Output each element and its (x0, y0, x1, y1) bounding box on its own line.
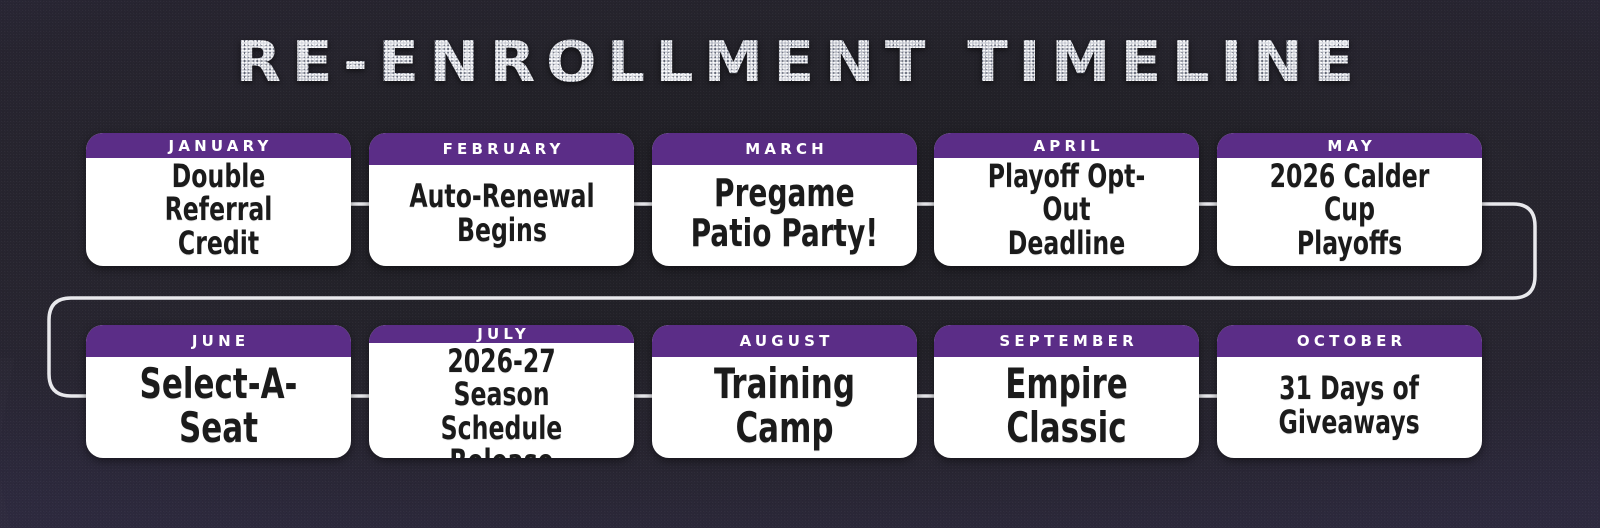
card-month-march: MARCH (652, 133, 917, 165)
card-event-april: Playoff Opt-Out Deadline (966, 160, 1167, 260)
card-body-january: Double Referral Credit (86, 158, 351, 266)
card-event-may: 2026 Calder Cup Playoffs (1249, 160, 1450, 260)
timeline-card-may[interactable]: MAY 2026 Calder Cup Playoffs (1217, 133, 1482, 266)
card-body-may: 2026 Calder Cup Playoffs (1217, 158, 1482, 266)
card-event-july: 2026-27 Season Schedule Release (401, 345, 602, 458)
card-event-january: Double Referral Credit (118, 160, 319, 260)
card-month-february: FEBRUARY (369, 133, 634, 165)
timeline-card-july[interactable]: JULY 2026-27 Season Schedule Release (369, 325, 634, 458)
card-event-june: Select-A-Seat (118, 362, 319, 449)
card-event-august: Training Camp (684, 362, 885, 449)
timeline-card-april[interactable]: APRIL Playoff Opt-Out Deadline (934, 133, 1199, 266)
timeline-card-june[interactable]: JUNE Select-A-Seat (86, 325, 351, 458)
card-month-april: APRIL (934, 133, 1199, 158)
card-month-october: OCTOBER (1217, 325, 1482, 357)
card-month-august: AUGUST (652, 325, 917, 357)
timeline-card-october[interactable]: OCTOBER 31 Days of Giveaways (1217, 325, 1482, 458)
card-body-june: Select-A-Seat (86, 357, 351, 458)
card-event-september: Empire Classic (966, 362, 1167, 449)
timeline-card-february[interactable]: FEBRUARY Auto-Renewal Begins (369, 133, 634, 266)
card-body-september: Empire Classic (934, 357, 1199, 458)
card-body-july: 2026-27 Season Schedule Release (369, 343, 634, 458)
card-month-june: JUNE (86, 325, 351, 357)
card-body-february: Auto-Renewal Begins (369, 165, 634, 266)
card-body-april: Playoff Opt-Out Deadline (934, 158, 1199, 266)
timeline-card-august[interactable]: AUGUST Training Camp (652, 325, 917, 458)
card-body-march: Pregame Patio Party! (652, 165, 917, 266)
timeline-card-march[interactable]: MARCH Pregame Patio Party! (652, 133, 917, 266)
card-month-july: JULY (369, 325, 634, 343)
card-event-march: Pregame Patio Party! (691, 174, 879, 253)
timeline-card-september[interactable]: SEPTEMBER Empire Classic (934, 325, 1199, 458)
card-body-august: Training Camp (652, 357, 917, 458)
card-month-january: JANUARY (86, 133, 351, 158)
card-event-february: Auto-Renewal Begins (409, 180, 594, 247)
card-event-october: 31 Days of Giveaways (1279, 372, 1420, 439)
card-month-may: MAY (1217, 133, 1482, 158)
timeline-graphic: RE-ENROLLMENT TIMELINE JANUARY Double Re… (0, 0, 1600, 528)
timeline-card-january[interactable]: JANUARY Double Referral Credit (86, 133, 351, 266)
card-month-september: SEPTEMBER (934, 325, 1199, 357)
page-title: RE-ENROLLMENT TIMELINE (0, 34, 1600, 92)
card-body-october: 31 Days of Giveaways (1217, 357, 1482, 458)
